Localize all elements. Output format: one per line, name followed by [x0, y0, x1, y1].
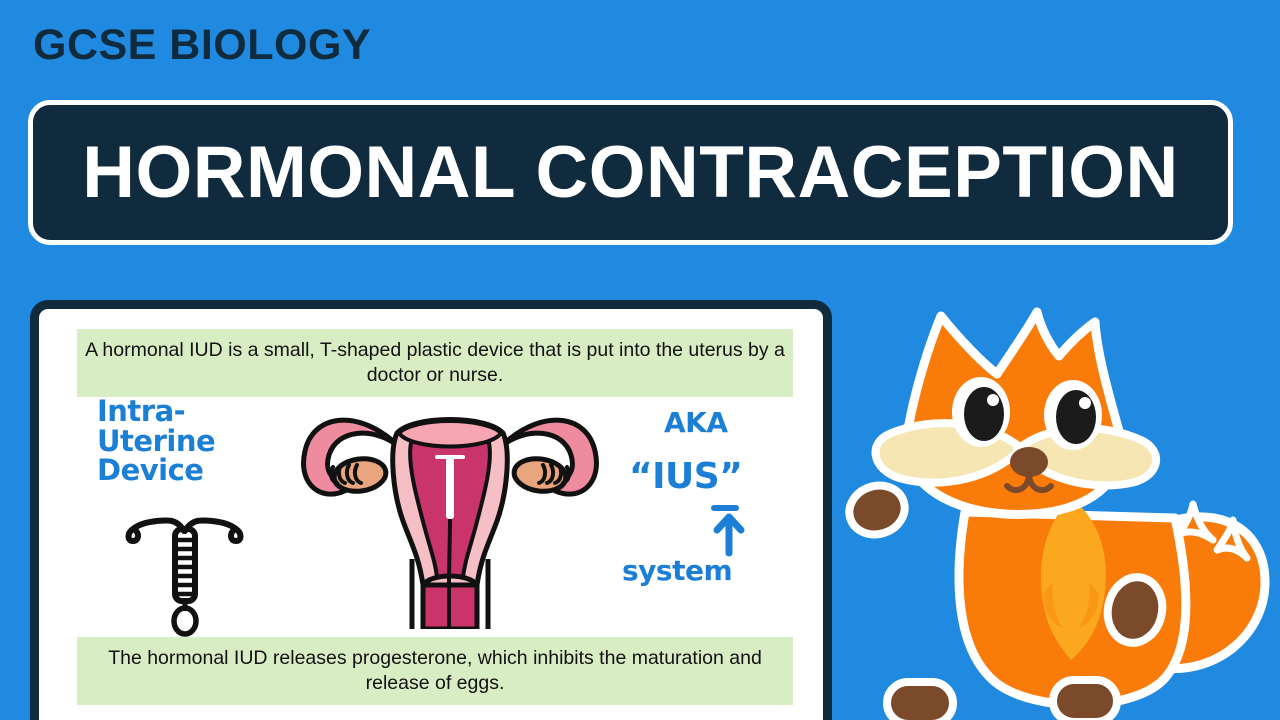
fox-mascot-illustration [845, 282, 1280, 720]
ius-abbreviation-label: “IUS” [629, 459, 742, 496]
device-label-line-1: Intra- [97, 397, 237, 427]
content-card: A hormonal IUD is a small, T-shaped plas… [30, 300, 832, 720]
intra-uterine-device-label: Intra- Uterine Device [97, 397, 237, 486]
up-arrow-icon [699, 509, 759, 557]
t-shaped-iud-device-icon [117, 507, 252, 639]
effect-text-banner: The hormonal IUD releases progesterone, … [77, 637, 793, 705]
uterus-anatomy-diagram [285, 389, 615, 629]
subject-label: GCSE BIOLOGY [33, 24, 371, 67]
device-label-line-2: Uterine [97, 427, 237, 457]
system-expansion-label: system [622, 557, 732, 586]
aka-label: AKA [664, 409, 728, 438]
intro-text-banner: A hormonal IUD is a small, T-shaped plas… [77, 329, 793, 397]
page-title: HORMONAL CONTRACEPTION [82, 136, 1179, 209]
slide-root: GCSE BIOLOGY HORMONAL CONTRACEPTION A ho… [0, 0, 1280, 720]
title-banner: HORMONAL CONTRACEPTION [28, 100, 1233, 245]
device-label-line-3: Device [97, 456, 237, 486]
